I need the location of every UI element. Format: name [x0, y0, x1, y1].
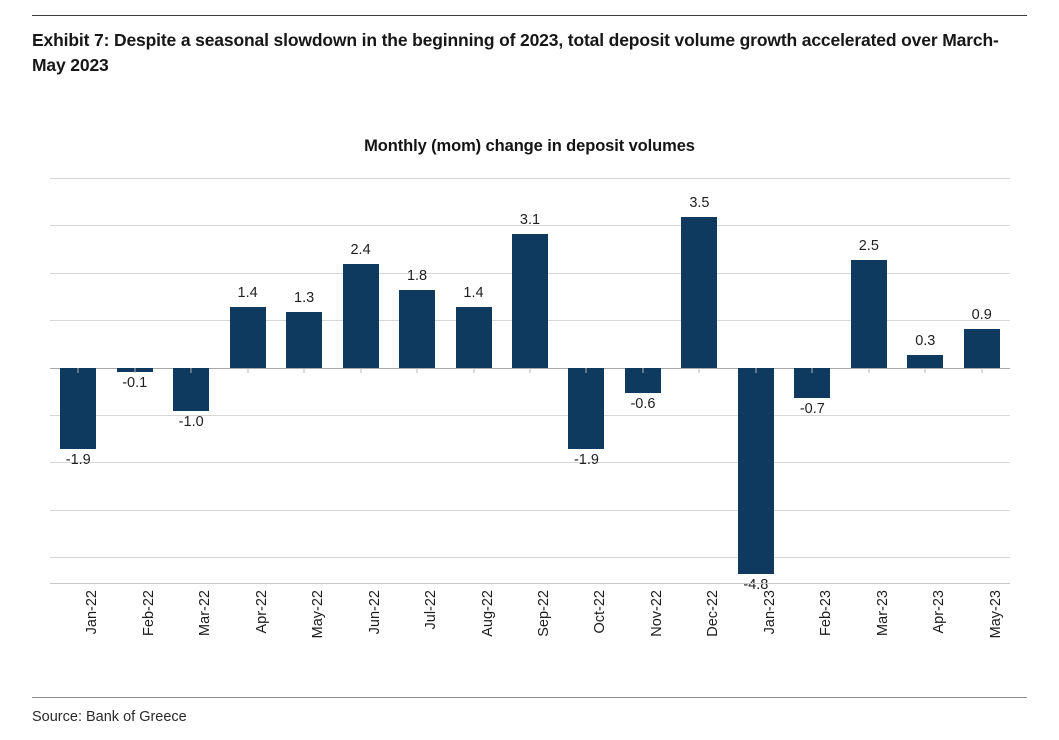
- bar[interactable]: [964, 329, 1000, 368]
- bar[interactable]: [173, 368, 209, 411]
- bar-value-label: 0.3: [915, 333, 935, 349]
- bar[interactable]: [851, 260, 887, 368]
- x-label-slot: Oct-22: [558, 588, 614, 683]
- x-axis-label: Apr-23: [931, 590, 947, 634]
- bar-slot: 1.4: [445, 178, 501, 583]
- bar-value-label: 1.3: [294, 290, 314, 306]
- bar-slot: 2.5: [841, 178, 897, 583]
- bar[interactable]: [456, 307, 492, 367]
- bar-value-label: -0.7: [800, 401, 825, 417]
- bar-slot: -0.6: [615, 178, 671, 583]
- x-label-slot: Sep-22: [502, 588, 558, 683]
- axis-tick: [642, 368, 643, 373]
- bar-value-label: 1.4: [238, 285, 258, 301]
- x-label-slot: Jan-23: [728, 588, 784, 683]
- bar-value-label: -1.0: [179, 414, 204, 430]
- x-label-slot: Feb-22: [106, 588, 162, 683]
- bar-slot: -1.9: [558, 178, 614, 583]
- bar-value-label: -0.1: [122, 375, 147, 391]
- axis-tick: [78, 368, 79, 373]
- x-axis-label: Oct-22: [592, 590, 608, 634]
- chart-title: Monthly (mom) change in deposit volumes: [0, 137, 1059, 156]
- bar-slot: -4.8: [728, 178, 784, 583]
- axis-tick: [191, 368, 192, 373]
- bar[interactable]: [512, 234, 548, 368]
- x-axis-label: Jun-22: [367, 590, 383, 634]
- x-label-slot: Aug-22: [445, 588, 501, 683]
- bar-value-label: 3.1: [520, 212, 540, 228]
- axis-tick: [699, 368, 700, 373]
- axis-tick: [755, 368, 756, 373]
- axis-tick: [812, 368, 813, 373]
- x-label-slot: Mar-23: [841, 588, 897, 683]
- source-note: Source: Bank of Greece: [32, 709, 187, 725]
- x-axis-line: [50, 583, 1010, 584]
- x-label-slot: Feb-23: [784, 588, 840, 683]
- x-label-slot: Apr-22: [219, 588, 275, 683]
- bar[interactable]: [907, 355, 943, 368]
- top-divider: [32, 15, 1027, 16]
- bar-slot: 1.3: [276, 178, 332, 583]
- bar-slot: -0.7: [784, 178, 840, 583]
- bar[interactable]: [343, 264, 379, 367]
- bar-slot: 3.5: [671, 178, 727, 583]
- exhibit-container: Exhibit 7: Despite a seasonal slowdown i…: [0, 0, 1059, 740]
- x-label-slot: Apr-23: [897, 588, 953, 683]
- x-axis-label: Aug-22: [480, 590, 496, 637]
- x-label-slot: Jun-22: [332, 588, 388, 683]
- exhibit-title: Exhibit 7: Despite a seasonal slowdown i…: [32, 28, 1028, 78]
- axis-tick: [868, 368, 869, 373]
- axis-tick: [529, 368, 530, 373]
- bar-value-label: -1.9: [66, 452, 91, 468]
- x-axis-label: May-23: [988, 590, 1004, 638]
- bar[interactable]: [568, 368, 604, 450]
- bottom-divider: [32, 697, 1027, 698]
- bar-value-label: 1.4: [463, 285, 483, 301]
- axis-tick: [134, 368, 135, 373]
- x-label-slot: May-22: [276, 588, 332, 683]
- bar[interactable]: [738, 368, 774, 575]
- axis-tick: [981, 368, 982, 373]
- bar-slot: 0.3: [897, 178, 953, 583]
- bar-slot: -0.1: [106, 178, 162, 583]
- x-label-slot: Jul-22: [389, 588, 445, 683]
- x-axis-label: Feb-23: [818, 590, 834, 636]
- x-axis-label: Dec-22: [705, 590, 721, 637]
- axis-tick: [417, 368, 418, 373]
- x-label-slot: Nov-22: [615, 588, 671, 683]
- bar-value-label: 0.9: [972, 307, 992, 323]
- axis-tick: [360, 368, 361, 373]
- x-axis-label: Apr-22: [254, 590, 270, 634]
- bar[interactable]: [681, 217, 717, 368]
- axis-tick: [304, 368, 305, 373]
- x-axis-label: Mar-22: [197, 590, 213, 636]
- chart-plot-area: -1.9-0.1-1.01.41.32.41.81.43.1-1.9-0.63.…: [50, 178, 1010, 583]
- bar[interactable]: [230, 307, 266, 367]
- bar-value-label: 3.5: [689, 195, 709, 211]
- x-axis-label: May-22: [310, 590, 326, 638]
- axis-tick: [473, 368, 474, 373]
- x-axis-label: Sep-22: [536, 590, 552, 637]
- axis-tick: [586, 368, 587, 373]
- x-axis-label: Mar-23: [875, 590, 891, 636]
- axis-tick: [925, 368, 926, 373]
- axis-tick: [247, 368, 248, 373]
- bars-layer: -1.9-0.1-1.01.41.32.41.81.43.1-1.9-0.63.…: [50, 178, 1010, 583]
- x-label-slot: Dec-22: [671, 588, 727, 683]
- bar-value-label: -1.9: [574, 452, 599, 468]
- bar[interactable]: [399, 290, 435, 368]
- bar-slot: 2.4: [332, 178, 388, 583]
- x-axis-label: Jul-22: [423, 590, 439, 630]
- bar-value-label: -0.6: [630, 396, 655, 412]
- bar[interactable]: [286, 312, 322, 368]
- x-label-slot: Mar-22: [163, 588, 219, 683]
- x-label-slot: May-23: [954, 588, 1010, 683]
- bar-slot: 1.8: [389, 178, 445, 583]
- bar-value-label: 2.4: [350, 242, 370, 258]
- x-axis-label: Jan-22: [84, 590, 100, 634]
- bar-slot: 0.9: [954, 178, 1010, 583]
- bar[interactable]: [60, 368, 96, 450]
- x-axis-label: Feb-22: [141, 590, 157, 636]
- bar-value-label: 2.5: [859, 238, 879, 254]
- bar-slot: 1.4: [219, 178, 275, 583]
- bar-slot: 3.1: [502, 178, 558, 583]
- bar-value-label: 1.8: [407, 268, 427, 284]
- x-axis-label: Jan-23: [762, 590, 778, 634]
- bar-slot: -1.0: [163, 178, 219, 583]
- x-axis-label: Nov-22: [649, 590, 665, 637]
- bar-slot: -1.9: [50, 178, 106, 583]
- x-axis-labels: Jan-22Feb-22Mar-22Apr-22May-22Jun-22Jul-…: [50, 588, 1010, 683]
- x-label-slot: Jan-22: [50, 588, 106, 683]
